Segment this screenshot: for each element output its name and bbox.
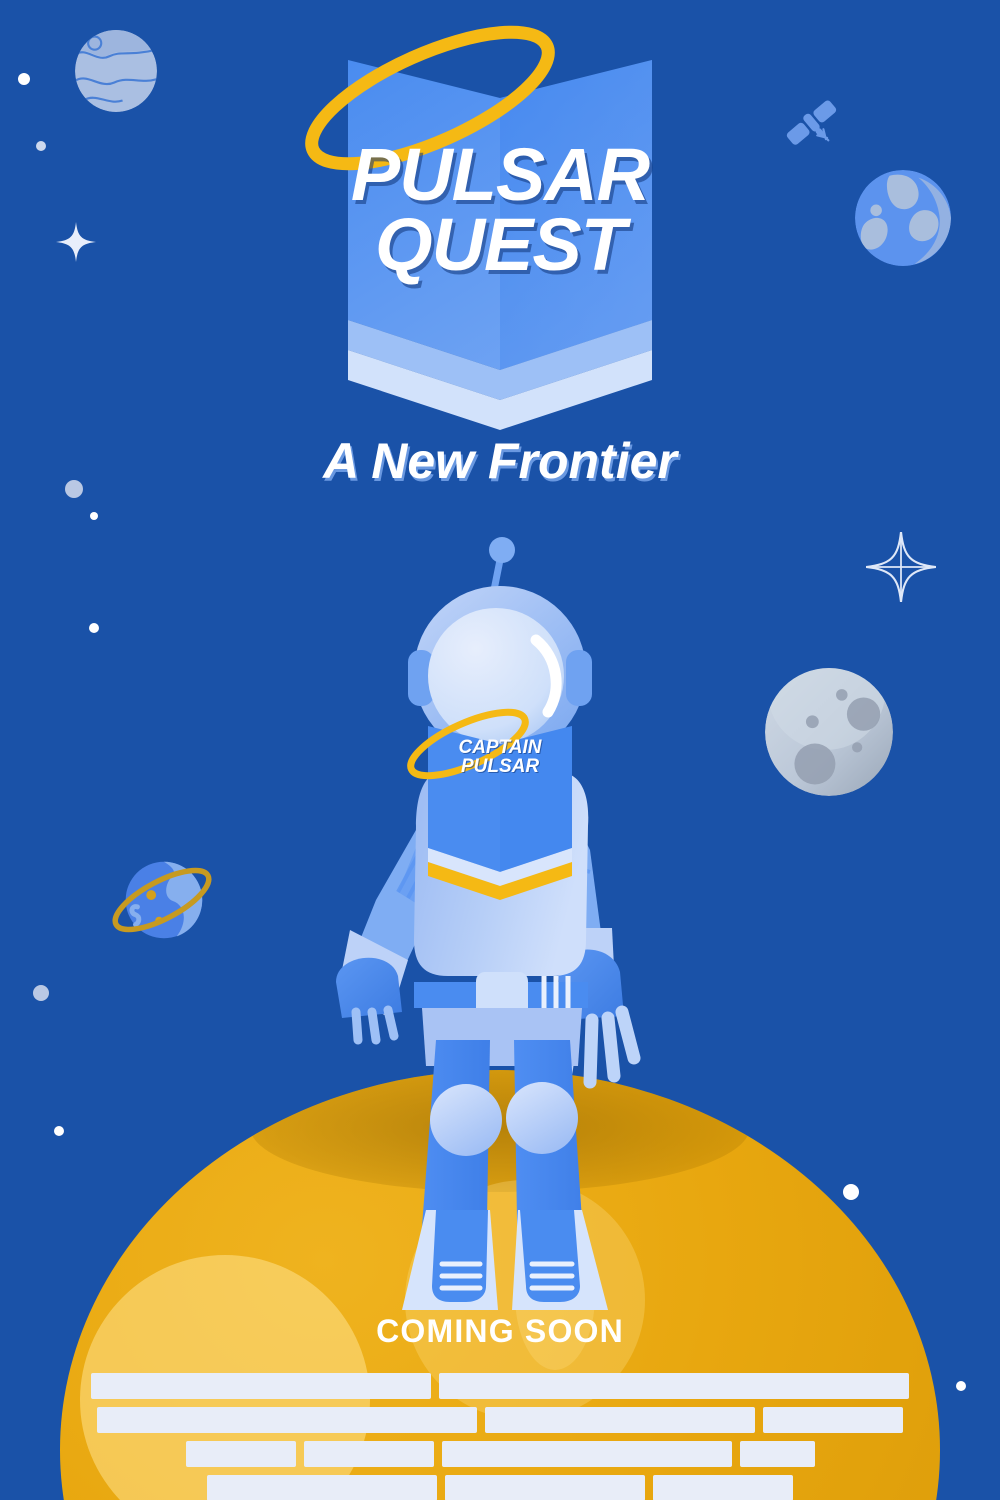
placeholder-bar — [439, 1373, 909, 1399]
placeholder-bar — [442, 1441, 732, 1467]
placeholder-bar-row — [0, 1475, 1000, 1500]
placeholder-bar — [485, 1407, 755, 1433]
placeholder-bar — [653, 1475, 793, 1500]
poster-canvas: PULSAR QUEST A New Frontier COMING SOON — [0, 0, 1000, 1500]
captain-pulsar-astronaut: CAPTAIN PULSAR — [290, 520, 710, 1320]
star-dot-6 — [33, 985, 49, 1001]
star-dot-7 — [54, 1126, 64, 1136]
placeholder-bar-row — [0, 1441, 1000, 1467]
star-dot-1 — [18, 73, 30, 85]
moon-grey-right — [765, 668, 893, 796]
star-dot-8 — [843, 1184, 859, 1200]
star-dot-4 — [90, 512, 98, 520]
placeholder-bar — [763, 1407, 903, 1433]
sparkle-star-right — [866, 532, 936, 602]
placeholder-bar — [91, 1373, 431, 1399]
star-dot-5 — [89, 623, 99, 633]
star-dot-2 — [36, 141, 46, 151]
pulsar-quest-logo: PULSAR QUEST — [290, 20, 710, 420]
placeholder-bar — [445, 1475, 645, 1500]
placeholder-bar-row — [0, 1373, 1000, 1399]
satellite-icon — [780, 92, 842, 154]
placeholder-bar — [207, 1475, 437, 1500]
placeholder-bar — [186, 1441, 296, 1467]
placeholder-text-bars — [0, 1373, 1000, 1500]
placeholder-bar-row — [0, 1407, 1000, 1433]
poster-subtitle: A New Frontier — [0, 432, 1000, 490]
placeholder-bar — [740, 1441, 815, 1467]
planet-ringed-left — [108, 846, 216, 954]
sparkle-star-left — [56, 222, 96, 262]
planet-banded-top-left — [75, 30, 157, 112]
placeholder-bar — [97, 1407, 477, 1433]
placeholder-bar — [304, 1441, 434, 1467]
planet-earth-top-right — [855, 170, 951, 266]
